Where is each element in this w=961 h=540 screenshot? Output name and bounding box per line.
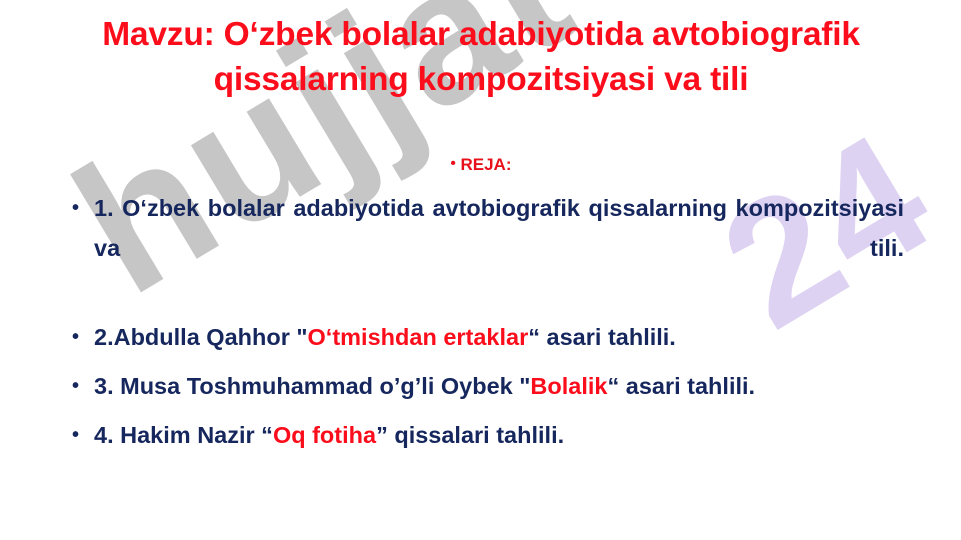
list-item-segment: “ asari tahlili.: [528, 324, 676, 350]
slide-title: Mavzu: O‘zbek bolalar adabiyotida avtobi…: [78, 12, 884, 102]
list-item-text: 2.Abdulla Qahhor "O‘tmishdan ertaklar“ a…: [94, 317, 904, 357]
bullet-marker-icon: •: [72, 415, 79, 455]
list-item-text: 4. Hakim Nazir “Oq fotiha” qissalari tah…: [94, 415, 904, 455]
list-item-segment: 2.Abdulla Qahhor ": [94, 324, 308, 350]
list-item-text: 3. Musa Toshmuhammad o’g’li Oybek "Bolal…: [94, 366, 904, 406]
list-item-segment: 4. Hakim Nazir “: [94, 422, 273, 448]
reja-heading: • REJA:: [78, 152, 884, 177]
bullet-marker-icon: •: [72, 188, 79, 228]
list-item: • 4. Hakim Nazir “Oq fotiha” qissalari t…: [64, 415, 904, 455]
list-item-highlight: Bolalik: [530, 373, 607, 399]
list-item-highlight: O‘tmishdan ertaklar: [308, 324, 529, 350]
reja-bullet-icon: •: [450, 155, 455, 172]
list-item-highlight: Oq fotiha: [273, 422, 376, 448]
bullet-marker-icon: •: [72, 317, 79, 357]
list-item: • 3. Musa Toshmuhammad o’g’li Oybek "Bol…: [64, 366, 904, 406]
bullet-marker-icon: •: [72, 366, 79, 406]
list-item-segment: 1. O‘zbek bolalar adabiyotida avtobiogra…: [94, 195, 904, 261]
bullet-list: • 1. O‘zbek bolalar adabiyotida avtobiog…: [64, 188, 904, 464]
reja-label: REJA:: [460, 155, 511, 174]
list-item-text: 1. O‘zbek bolalar adabiyotida avtobiogra…: [94, 188, 904, 308]
list-item-segment: “ asari tahlili.: [607, 373, 755, 399]
slide-content: Mavzu: O‘zbek bolalar adabiyotida avtobi…: [0, 0, 961, 540]
list-item-segment: ” qissalari tahlili.: [376, 422, 564, 448]
list-item: • 1. O‘zbek bolalar adabiyotida avtobiog…: [64, 188, 904, 308]
slide-canvas: hujjat 24 Mavzu: O‘zbek bolalar adabiyot…: [0, 0, 961, 540]
list-item: • 2.Abdulla Qahhor "O‘tmishdan ertaklar“…: [64, 317, 904, 357]
list-item-segment: 3. Musa Toshmuhammad o’g’li Oybek ": [94, 373, 530, 399]
